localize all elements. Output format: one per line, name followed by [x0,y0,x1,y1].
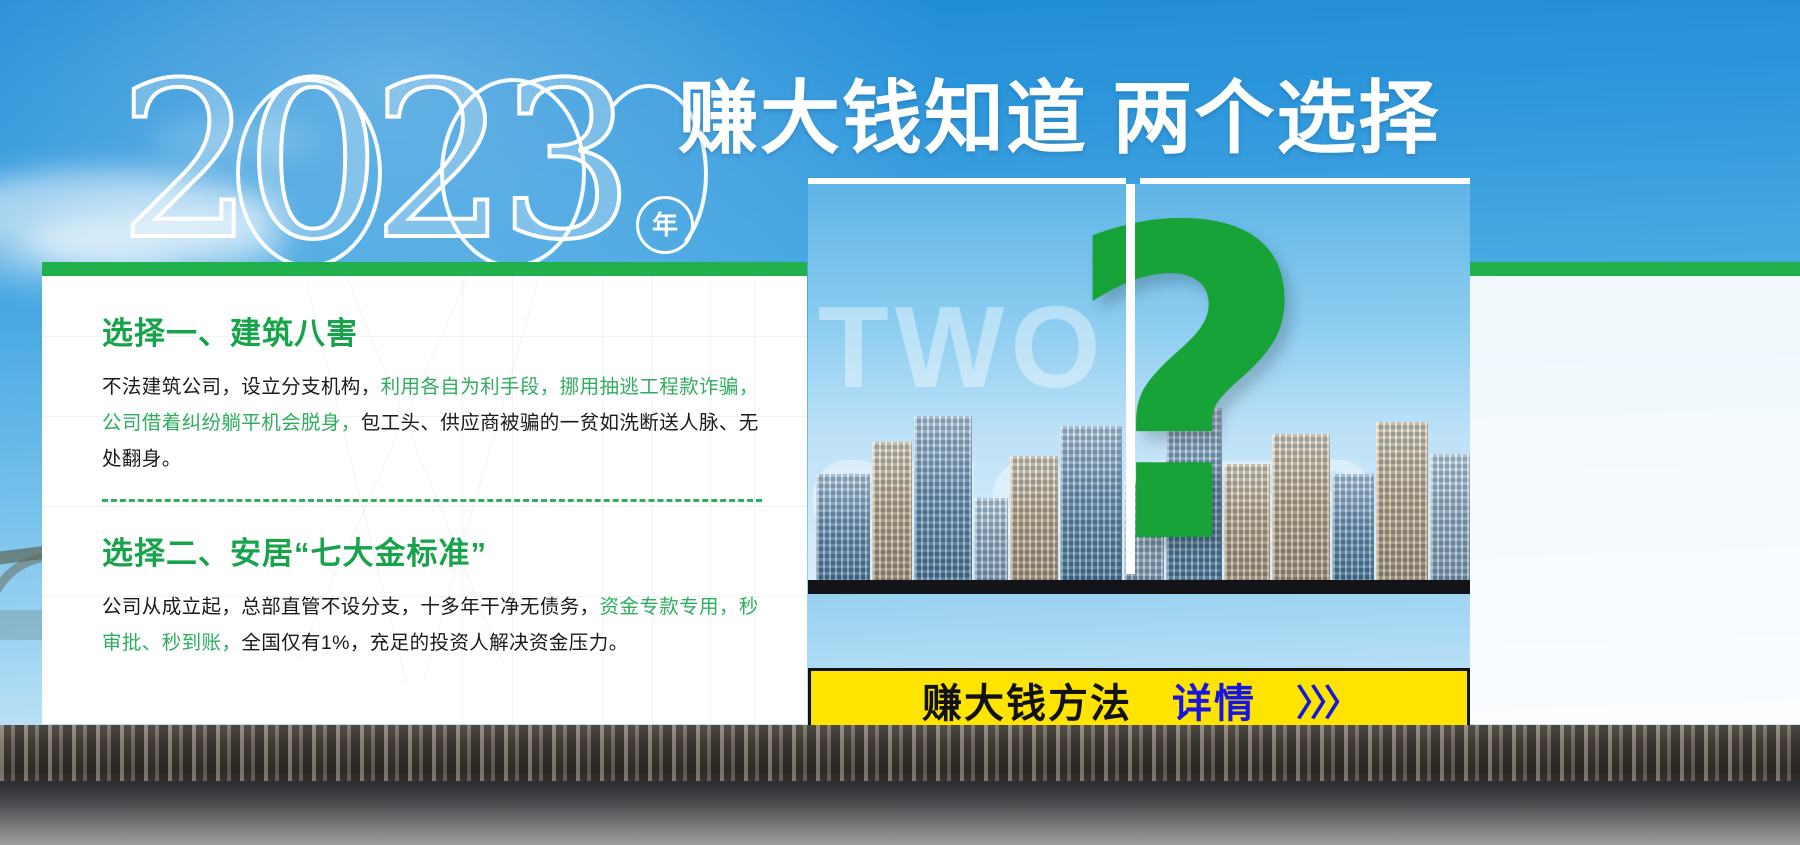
section-one: 选择一、建筑八害 不法建筑公司，设立分支机构，利用各自为利手段，挪用抽逃工程款诈… [102,308,762,477]
right-white-panel [1470,276,1800,724]
section-one-text-a: 不法建筑公司，设立分支机构， [102,376,381,398]
year-ring-decoration [236,78,382,268]
right-green-accent [1470,262,1800,276]
section-two: 选择二、安居“七大金标准” 公司从成立起，总部直管不设分支，十多年干净无债务，资… [102,528,762,661]
section-two-title: 选择二、安居“七大金标准” [102,528,762,573]
section-divider [102,499,762,502]
year-ring-decoration [440,78,586,268]
page-title: 赚大钱知道 两个选择 [678,76,1440,162]
year-suffix-badge: 年 [636,196,694,254]
cta-main-label: 赚大钱方法 [922,671,1132,729]
content-card: 选择一、建筑八害 不法建筑公司，设立分支机构，利用各自为利手段，挪用抽逃工程款诈… [42,262,807,724]
section-one-title: 选择一、建筑八害 [102,308,762,353]
question-photo-panel: TWO CHOICES ? [808,184,1470,594]
promo-banner: 2023 年 赚大钱知道 两个选择 TWO CHOICES ? [0,0,1800,845]
section-two-text-c: 全国仅有1%，充足的投资人解决资金压力。 [241,632,628,654]
cta-button[interactable]: 赚大钱方法 详情 〉〉〉 [808,668,1470,732]
section-two-text-a: 公司从成立起，总部直管不设分支，十多年干净无债务， [102,596,600,618]
section-two-body: 公司从成立起，总部直管不设分支，十多年干净无债务，资金专款专用，秒审批、秒到账，… [102,589,762,661]
chevron-right-icon: 〉〉〉 [1296,674,1356,726]
question-mark-icon: ? [1063,184,1312,594]
card-green-header-bar [42,262,807,276]
cta-link-label[interactable]: 详情 [1172,671,1256,729]
riverside-photo-strip [0,725,1800,845]
section-one-body: 不法建筑公司，设立分支机构，利用各自为利手段，挪用抽逃工程款诈骗，公司借着纠纷躺… [102,369,762,477]
panel-divider [1126,184,1135,574]
